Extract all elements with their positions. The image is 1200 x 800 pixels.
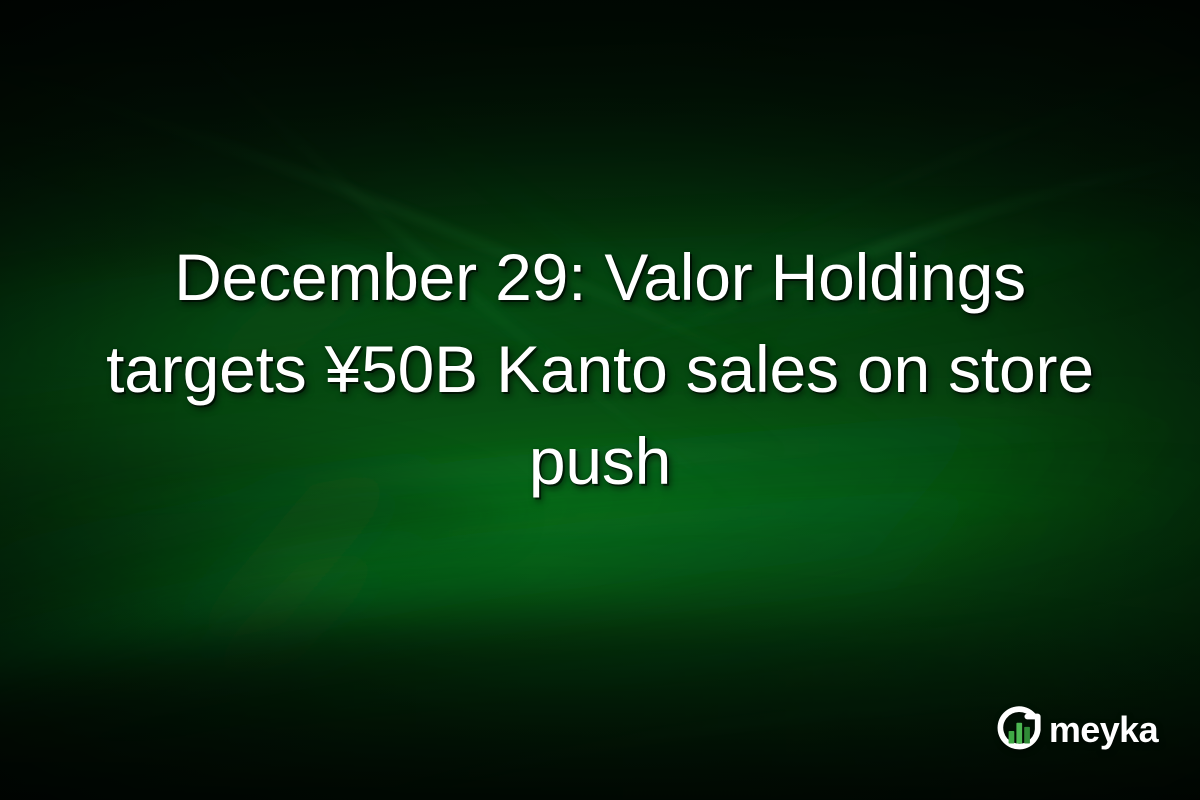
headline-text: December 29: Valor Holdings targets ¥50B… xyxy=(70,231,1130,569)
logo-bar-3 xyxy=(1024,727,1030,744)
news-card: December 29: Valor Holdings targets ¥50B… xyxy=(0,0,1200,800)
logo-bar-1 xyxy=(1008,731,1014,743)
meyka-logo-mark-icon xyxy=(993,704,1045,756)
meyka-logo[interactable]: meyka xyxy=(993,704,1158,756)
meyka-logo-text: meyka xyxy=(1049,712,1158,748)
headline-container: December 29: Valor Holdings targets ¥50B… xyxy=(0,0,1200,800)
logo-bar-2 xyxy=(1016,723,1022,744)
